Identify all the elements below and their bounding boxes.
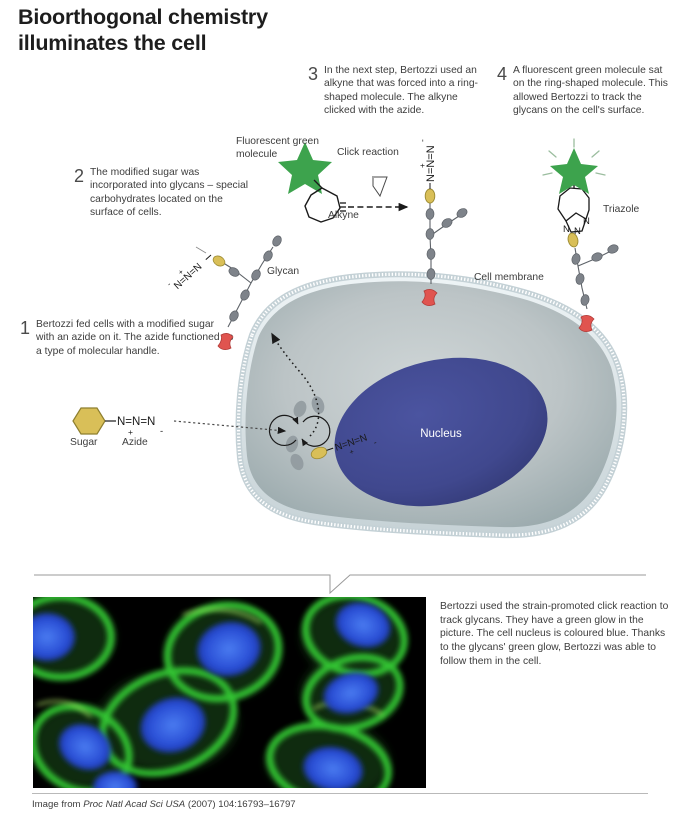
svg-text:+: + bbox=[348, 447, 356, 457]
metabolic-cycle-arrow bbox=[269, 415, 329, 446]
step-2: 2 The modified sugar was incorporated in… bbox=[74, 166, 254, 220]
fluorescent-molecule-label: Fluorescent green molecule bbox=[236, 136, 336, 162]
step-1-number: 1 bbox=[20, 319, 30, 337]
step-4: 4 A fluorescent green molecule sat on th… bbox=[497, 64, 673, 118]
cytoplasm bbox=[245, 281, 616, 527]
step-2-text: The modified sugar was incorporated into… bbox=[90, 166, 254, 220]
nucleus-label: Nucleus bbox=[420, 428, 462, 440]
transport-path bbox=[272, 334, 319, 436]
svg-text:+: + bbox=[128, 427, 133, 437]
step-4-number: 4 bbox=[497, 65, 507, 83]
title-line-2: illuminates the cell bbox=[18, 30, 378, 56]
step2-leader-line bbox=[196, 247, 206, 253]
cell-membrane-label: Cell membrane bbox=[474, 272, 544, 285]
cyclooctane-ring-icon bbox=[558, 188, 589, 221]
title-line-1: Bioorthogonal chemistry bbox=[18, 5, 268, 29]
glycan-left-sugar-icon bbox=[211, 254, 226, 268]
step-2-number: 2 bbox=[74, 167, 84, 185]
fluorescent-molecule-line2: molecule bbox=[236, 149, 277, 160]
svg-text:+: + bbox=[176, 267, 186, 277]
membrane-anchor-icon bbox=[579, 315, 594, 331]
svg-text:N: N bbox=[563, 224, 570, 235]
credit-prefix: Image from bbox=[32, 799, 83, 810]
credit-divider bbox=[32, 793, 648, 794]
step-3-text: In the next step, Bertozzi used an alkyn… bbox=[324, 64, 488, 118]
fluorescent-molecule-line1: Fluorescent green bbox=[236, 136, 319, 147]
nucleus-shape bbox=[320, 338, 563, 527]
sugar-label: Sugar bbox=[70, 437, 97, 450]
click-reaction-bracket bbox=[372, 177, 387, 196]
svg-text:-: - bbox=[160, 426, 163, 437]
svg-text:N: N bbox=[574, 226, 581, 237]
svg-text:-: - bbox=[165, 280, 173, 289]
glycan-label: Glycan bbox=[267, 266, 299, 279]
sugar-molecule-icon bbox=[310, 445, 329, 460]
azide-label: Azide bbox=[122, 437, 148, 450]
azide-formula-legend: N=N=N bbox=[117, 416, 155, 428]
step-3: 3 In the next step, Bertozzi used an alk… bbox=[308, 64, 488, 118]
credit-journal: Proc Natl Acad Sci USA bbox=[83, 799, 185, 810]
glycan-right-triazole: N N N Triazole bbox=[543, 139, 640, 332]
svg-text:-: - bbox=[372, 437, 378, 447]
fluorophore-star-glow-icon bbox=[543, 139, 605, 194]
alkyne-label: Alkyne bbox=[328, 210, 359, 223]
glycan-right-sugar-icon bbox=[567, 232, 580, 248]
intracellular-sugar-azide: N=N=N + - bbox=[310, 429, 379, 469]
sugar-hexagon-icon bbox=[73, 408, 105, 434]
svg-text:N=N=N: N=N=N bbox=[172, 261, 204, 291]
triazole-label: Triazole bbox=[603, 204, 640, 215]
svg-text:+: + bbox=[418, 163, 427, 168]
cell-membrane-bilayer bbox=[239, 274, 625, 535]
step-1: 1 Bertozzi fed cells with a modified sug… bbox=[20, 318, 235, 358]
membrane-anchor-icon bbox=[422, 289, 437, 305]
svg-text:N=N=N: N=N=N bbox=[334, 432, 369, 453]
step-1-text: Bertozzi fed cells with a modified sugar… bbox=[36, 318, 235, 358]
cell-membrane-outer bbox=[239, 274, 625, 535]
fluorescence-micrograph bbox=[33, 597, 426, 788]
cell-body: Nucleus N=N=N + - bbox=[239, 274, 625, 535]
click-reaction-label: Click reaction bbox=[337, 147, 399, 160]
page-title: Bioorthogonal chemistry illuminates the … bbox=[18, 4, 378, 56]
image-credit: Image from Proc Natl Acad Sci USA (2007)… bbox=[32, 799, 462, 810]
organelle-blobs bbox=[284, 395, 326, 473]
step-3-number: 3 bbox=[308, 65, 318, 83]
step-4-text: A fluorescent green molecule sat on the … bbox=[513, 64, 673, 118]
sugar-entry-arrow bbox=[174, 421, 285, 431]
svg-text:N: N bbox=[583, 216, 590, 227]
credit-suffix: (2007) 104:16793–16797 bbox=[185, 799, 295, 810]
svg-text:-: - bbox=[417, 139, 427, 142]
svg-text:N=N=N: N=N=N bbox=[425, 145, 437, 182]
triazole-ring-icon bbox=[566, 213, 586, 232]
sugar-azide-legend: N=N=N + - bbox=[73, 408, 285, 437]
glycan-center-sugar-icon bbox=[425, 189, 435, 203]
micrograph-caption: Bertozzi used the strain-promoted click … bbox=[440, 600, 674, 668]
infographic-page: Bioorthogonal chemistry illuminates the … bbox=[0, 0, 680, 826]
section-divider bbox=[34, 573, 646, 595]
glycan-center: N=N=N + - bbox=[417, 139, 469, 306]
